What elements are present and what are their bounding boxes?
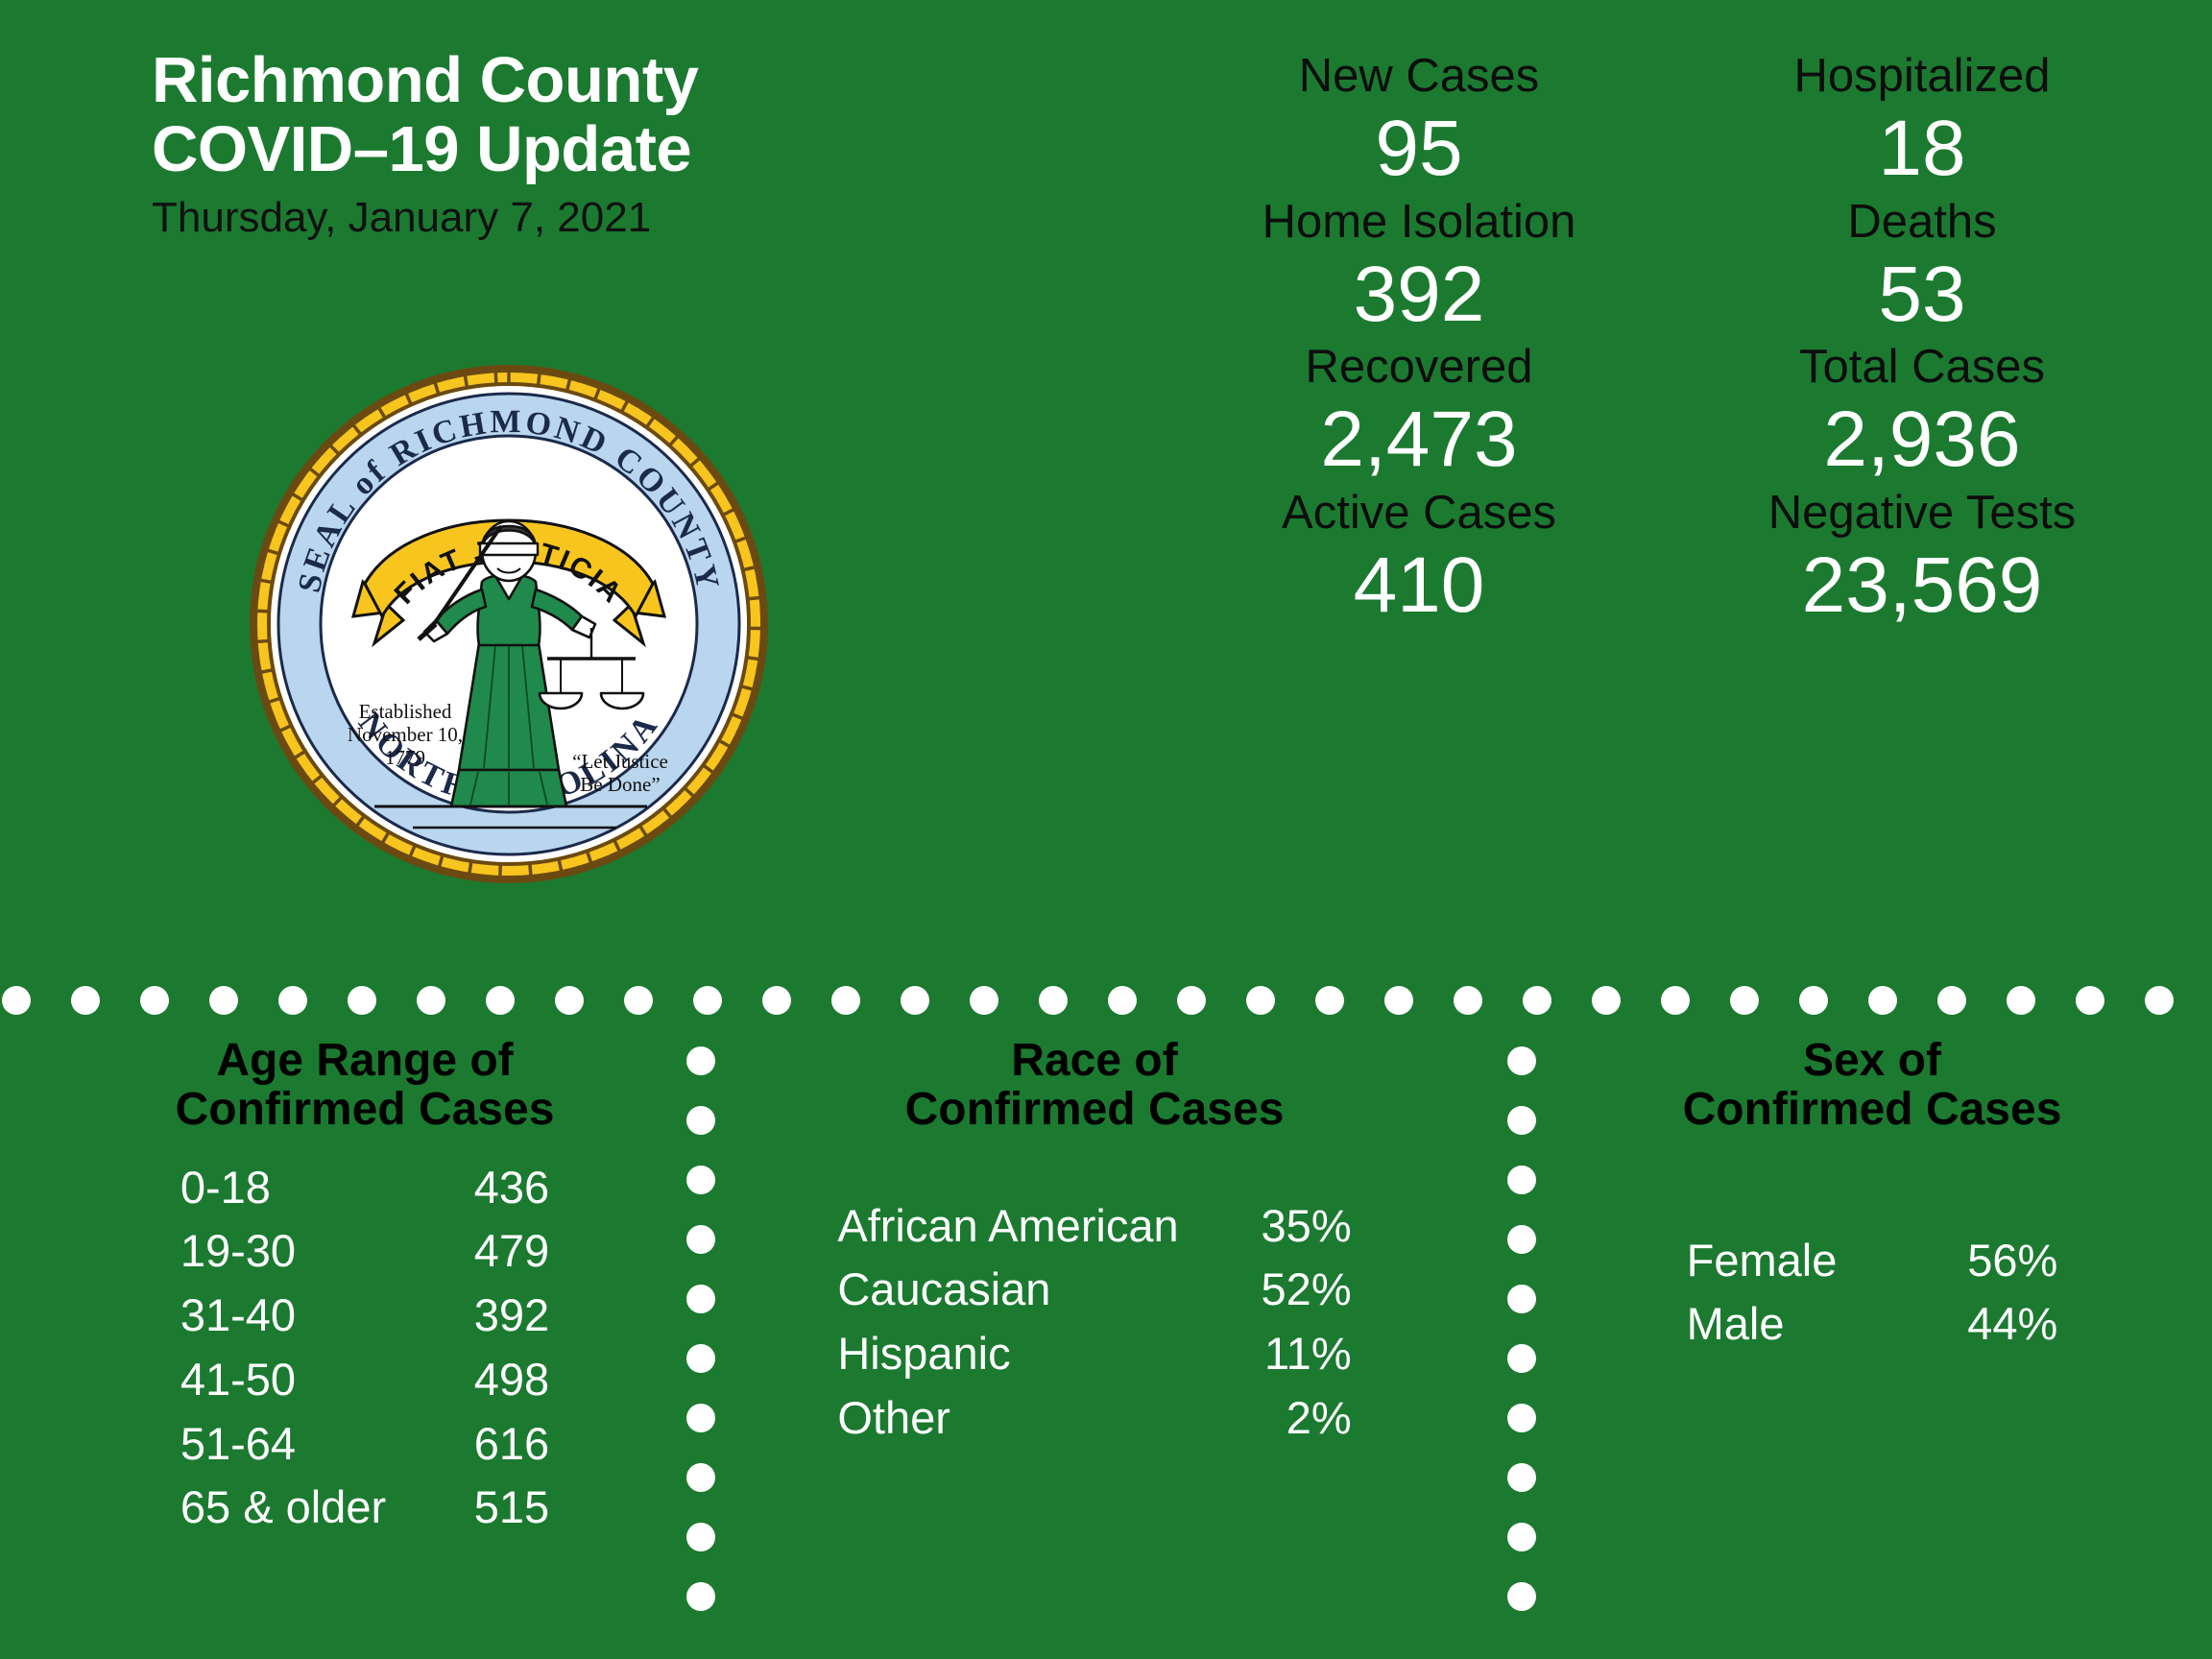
stat-label: Active Cases (1181, 487, 1657, 540)
divider-dot (1661, 986, 1690, 1015)
divider-dot (348, 986, 376, 1015)
svg-text:1779: 1779 (385, 746, 425, 769)
heading-line-2: Confirmed Cases (86, 1086, 643, 1135)
seal-motto-text: “Let Justice Be Done” (572, 750, 668, 796)
row-label: 19-30 (180, 1219, 434, 1284)
divider-dot (2, 986, 31, 1015)
divider-dot (1507, 1582, 1536, 1611)
table-row: 65 & older 515 (180, 1476, 549, 1540)
divider-dot (1384, 986, 1413, 1015)
svg-text:November 10,: November 10, (348, 723, 463, 746)
stat-hospitalized: Hospitalized 18 (1684, 50, 2160, 196)
table-row: Other 2% (837, 1386, 1351, 1451)
row-label: 31-40 (180, 1284, 434, 1348)
divider-dot (686, 1582, 715, 1611)
table-row: 19-30 479 (180, 1219, 549, 1284)
stat-value: 392 (1181, 249, 1657, 342)
stat-value: 53 (1684, 249, 2160, 342)
row-value: 498 (434, 1348, 549, 1412)
table-row: 0-18 436 (180, 1156, 549, 1220)
page-title-line-1: Richmond County (152, 46, 1016, 115)
row-label: Other (837, 1386, 1236, 1451)
table-row: 31-40 392 (180, 1284, 549, 1348)
row-value: 479 (434, 1219, 549, 1284)
stat-active-cases: Active Cases 410 (1181, 487, 1657, 633)
race-heading: Race of Confirmed Cases (710, 1037, 1479, 1135)
divider-dot (486, 986, 515, 1015)
title-block: Richmond County COVID–19 Update Thursday… (152, 46, 1016, 244)
table-row: African American 35% (837, 1194, 1351, 1259)
age-range-heading: Age Range of Confirmed Cases (86, 1037, 643, 1135)
divider-dot (1177, 986, 1206, 1015)
table-row: Male 44% (1687, 1292, 2058, 1357)
richmond-county-seal: SEAL of RICHMOND COUNTY NORTH CAROLINA F… (240, 355, 778, 893)
divider-dot (1937, 986, 1966, 1015)
stat-label: Home Isolation (1181, 196, 1657, 249)
divider-dot (1315, 986, 1344, 1015)
divider-dot (624, 986, 653, 1015)
divider-dot (686, 1523, 715, 1551)
summary-stats-grid: New Cases 95 Hospitalized 18 Home Isolat… (1181, 50, 2160, 633)
divider-dot (1246, 986, 1275, 1015)
stat-negative-tests: Negative Tests 23,569 (1684, 487, 2160, 633)
row-value: 2% (1237, 1386, 1352, 1451)
row-value: 44% (1942, 1292, 2057, 1357)
row-label: Female (1687, 1229, 1943, 1293)
svg-text:Be Done”: Be Done” (580, 773, 660, 796)
row-value: 35% (1237, 1194, 1352, 1259)
row-value: 515 (434, 1476, 549, 1540)
sex-section: Sex of Confirmed Cases Female 56% Male 4… (1555, 1037, 2189, 1357)
stat-value: 2,473 (1181, 394, 1657, 487)
top-panel: Richmond County COVID–19 Update Thursday… (0, 0, 2212, 972)
divider-dot (901, 986, 929, 1015)
svg-text:“Let Justice: “Let Justice (572, 750, 668, 773)
row-value: 56% (1942, 1229, 2057, 1293)
sex-table: Female 56% Male 44% (1687, 1229, 2058, 1357)
stat-value: 2,936 (1684, 394, 2160, 487)
stat-recovered: Recovered 2,473 (1181, 341, 1657, 487)
stat-value: 18 (1684, 103, 2160, 196)
row-value: 392 (434, 1284, 549, 1348)
divider-dot (1507, 1344, 1536, 1373)
row-label: 0-18 (180, 1156, 434, 1220)
divider-dot (1730, 986, 1759, 1015)
race-table: African American 35% Caucasian 52% Hispa… (837, 1194, 1351, 1451)
stat-label: Recovered (1181, 341, 1657, 394)
stat-label: Hospitalized (1684, 50, 2160, 103)
divider-dot (1592, 986, 1621, 1015)
stat-label: Total Cases (1684, 341, 2160, 394)
divider-dot (1507, 1463, 1536, 1492)
divider-dot (831, 986, 860, 1015)
row-label: Male (1687, 1292, 1943, 1357)
divider-dot (2007, 986, 2035, 1015)
age-range-section: Age Range of Confirmed Cases 0-18 436 19… (86, 1037, 643, 1540)
divider-dot (1868, 986, 1897, 1015)
heading-line-1: Race of (710, 1037, 1479, 1086)
divider-dot (209, 986, 238, 1015)
row-label: African American (837, 1194, 1236, 1259)
stat-home-isolation: Home Isolation 392 (1181, 196, 1657, 342)
heading-line-1: Sex of (1555, 1037, 2189, 1086)
divider-dot (686, 1463, 715, 1492)
stat-label: Negative Tests (1684, 487, 2160, 540)
table-row: Female 56% (1687, 1229, 2058, 1293)
heading-line-2: Confirmed Cases (710, 1086, 1479, 1135)
divider-dot (1507, 1523, 1536, 1551)
divider-dot (1799, 986, 1828, 1015)
divider-dot (1507, 1106, 1536, 1135)
divider-dot (762, 986, 791, 1015)
row-label: 65 & older (180, 1476, 434, 1540)
stat-total-cases: Total Cases 2,936 (1684, 341, 2160, 487)
race-section: Race of Confirmed Cases African American… (710, 1037, 1479, 1451)
divider-dot (71, 986, 100, 1015)
divider-dot (2145, 986, 2174, 1015)
stat-value: 95 (1181, 103, 1657, 196)
heading-line-2: Confirmed Cases (1555, 1086, 2189, 1135)
divider-dot (1507, 1285, 1536, 1313)
report-date: Thursday, January 7, 2021 (152, 193, 1016, 244)
table-row: 41-50 498 (180, 1348, 549, 1412)
divider-dot (140, 986, 169, 1015)
divider-dot (1039, 986, 1068, 1015)
table-row: Hispanic 11% (837, 1322, 1351, 1386)
row-label: 41-50 (180, 1348, 434, 1412)
row-value: 436 (434, 1156, 549, 1220)
row-value: 52% (1237, 1258, 1352, 1322)
age-range-table: 0-18 436 19-30 479 31-40 392 41-50 498 5… (180, 1156, 549, 1540)
row-value: 11% (1237, 1322, 1352, 1386)
divider-dot (555, 986, 584, 1015)
heading-line-1: Age Range of (86, 1037, 643, 1086)
divider-dot (1507, 1404, 1536, 1432)
page-title-line-2: COVID–19 Update (152, 115, 1016, 184)
divider-dot (417, 986, 445, 1015)
row-label: Caucasian (837, 1258, 1236, 1322)
table-row: 51-64 616 (180, 1412, 549, 1477)
stat-deaths: Deaths 53 (1684, 196, 2160, 342)
sex-heading: Sex of Confirmed Cases (1555, 1037, 2189, 1135)
row-label: 51-64 (180, 1412, 434, 1477)
row-value: 616 (434, 1412, 549, 1477)
horizontal-dot-divider (0, 981, 2212, 1020)
stat-value: 23,569 (1684, 540, 2160, 633)
row-label: Hispanic (837, 1322, 1236, 1386)
divider-dot (1507, 1166, 1536, 1194)
stat-label: Deaths (1684, 196, 2160, 249)
divider-dot (1108, 986, 1137, 1015)
svg-text:Established: Established (359, 700, 452, 723)
divider-dot (1507, 1046, 1536, 1075)
stat-new-cases: New Cases 95 (1181, 50, 1657, 196)
divider-dot (1523, 986, 1551, 1015)
vertical-dot-divider-right (1507, 1046, 1536, 1659)
divider-dot (278, 986, 307, 1015)
divider-dot (2076, 986, 2104, 1015)
divider-dot (693, 986, 722, 1015)
divider-dot (1454, 986, 1482, 1015)
stat-value: 410 (1181, 540, 1657, 633)
divider-dot (970, 986, 998, 1015)
divider-dot (1507, 1225, 1536, 1254)
table-row: Caucasian 52% (837, 1258, 1351, 1322)
stat-label: New Cases (1181, 50, 1657, 103)
